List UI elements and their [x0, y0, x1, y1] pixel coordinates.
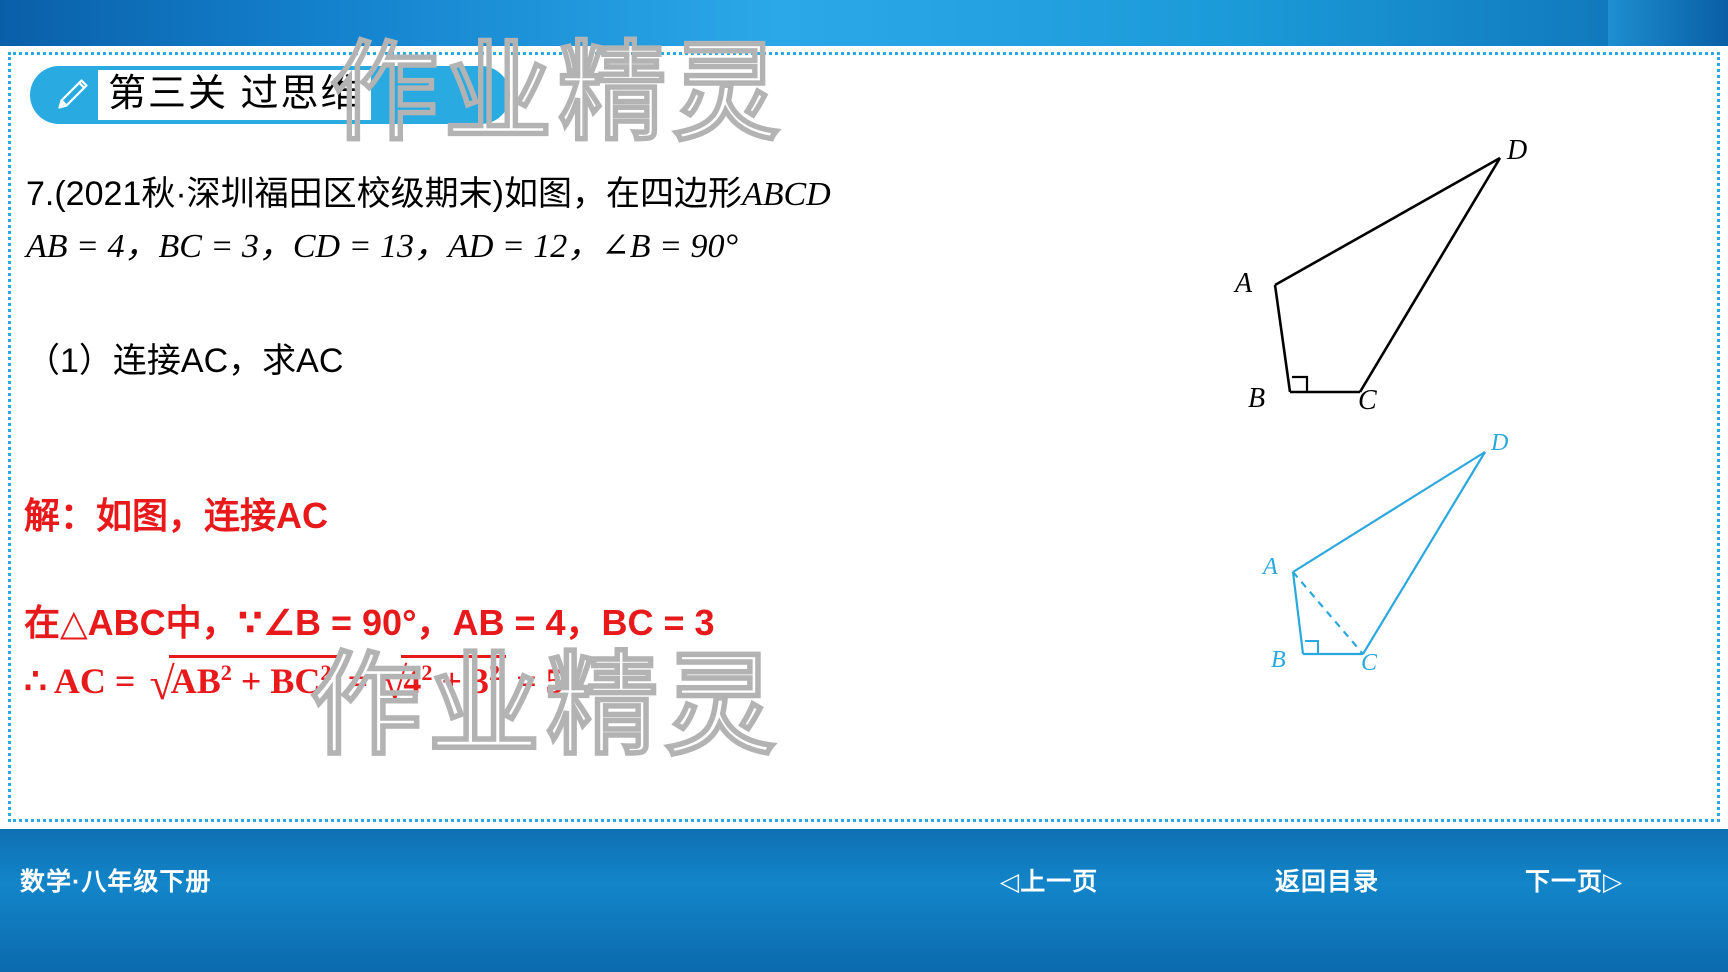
question-quad-name: ABCD	[742, 176, 831, 213]
section-title-badge[interactable]: 第三关 过思维	[30, 66, 510, 124]
radicand-2: 42 + 32	[401, 655, 506, 702]
figure-1-label-c: C	[1358, 385, 1377, 417]
question-line-1-text: 7.(2021秋·深圳福田区校级期末)如图，在四边形	[26, 175, 742, 213]
section-title-text: 第三关 过思维	[98, 70, 371, 120]
figure-1-svg	[1215, 130, 1555, 450]
footer-book-title: 数学·八年级下册	[20, 862, 211, 898]
solution-line-3: ∴ AC = √AB2 + BC2 = √42 + 32 = 5	[24, 655, 564, 707]
figure-2-label-b: B	[1271, 647, 1286, 674]
figure-1-label-d: D	[1507, 135, 1527, 167]
solution-line-3-prefix: ∴ AC =	[24, 661, 135, 701]
solution-equals-1: =	[348, 661, 369, 701]
figure-2-svg	[1245, 432, 1545, 712]
slide-page: 第三关 过思维 7.(2021秋·深圳福田区校级期末)如图，在四边形ABCD A…	[0, 0, 1728, 972]
next-page-button[interactable]: 下一页▷	[1525, 862, 1623, 898]
footer-bar: 数学·八年级下册 ◁上一页 返回目录 下一页▷	[0, 826, 1728, 972]
figure-1-label-a: A	[1235, 268, 1252, 300]
figure-2-label-d: D	[1491, 430, 1508, 457]
question-line-1: 7.(2021秋·深圳福田区校级期末)如图，在四边形ABCD	[26, 168, 1156, 221]
figure-1-label-b: B	[1248, 383, 1265, 415]
radicand-1: AB2 + BC2	[169, 655, 338, 702]
figure-2-label-c: C	[1361, 650, 1377, 677]
solution-line-2: 在△ABC中，∵∠B = 90°，AB = 4，BC = 3	[24, 594, 715, 646]
figure-2-label-a: A	[1263, 554, 1278, 581]
prev-page-button[interactable]: ◁上一页	[1000, 862, 1098, 898]
solution-result: = 5	[516, 661, 564, 701]
top-bar-right-cap	[1608, 0, 1728, 46]
figure-quadrilateral-cyan: A B C D	[1245, 432, 1545, 712]
right-angle-mark-b-cyan	[1305, 641, 1318, 654]
right-angle-mark-b	[1292, 377, 1307, 392]
question-line-2: AB = 4，BC = 3，CD = 13，AD = 12，∠B = 90°	[26, 221, 1156, 273]
table-of-contents-button[interactable]: 返回目录	[1275, 862, 1379, 898]
dashed-diagonal-ac	[1293, 572, 1363, 654]
sqrt-expression-2: √42 + 32	[378, 655, 506, 707]
solution-line-1: 解：如图，连接AC	[24, 487, 328, 539]
top-decoration-bar	[0, 0, 1728, 46]
question-block: 7.(2021秋·深圳福田区校级期末)如图，在四边形ABCD AB = 4，BC…	[26, 168, 1156, 273]
pencil-icon	[52, 75, 92, 115]
sub-question-1: （1）连接AC，求AC	[26, 333, 343, 382]
figure-quadrilateral-black: A B C D	[1215, 130, 1555, 450]
sqrt-expression-1: √AB2 + BC2	[145, 655, 337, 707]
